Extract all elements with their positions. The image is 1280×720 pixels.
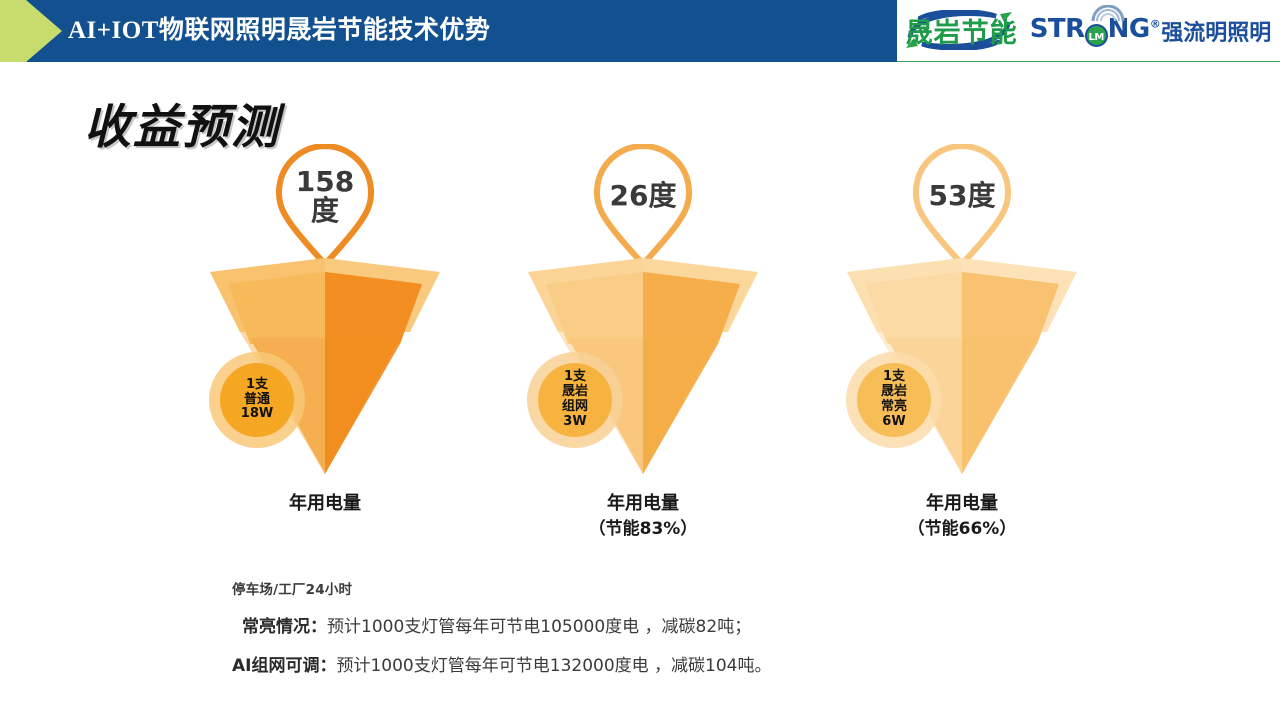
pin-number: 158	[296, 167, 354, 196]
caption-main: 年用电量	[926, 493, 998, 514]
badge-line: 组网	[562, 400, 588, 415]
value-pin-marker: 53度	[910, 144, 1014, 266]
registered-mark-icon: ®	[1150, 17, 1161, 30]
notes-block: 停车场/工厂24小时 常亮情况：预计1000支灯管每年可节电105000度电 ，…	[232, 578, 1132, 676]
badge-inner-circle: 1支 普通 18W	[220, 363, 294, 437]
value-pin-marker: 158 度	[273, 144, 377, 266]
page-title: AI+IOT物联网照明晟岩节能技术优势	[68, 0, 490, 62]
badge-line: 普通	[244, 393, 270, 408]
note-line-body: 预计1000支灯管每年可节电132000度电 ，减碳104吨。	[336, 656, 771, 676]
pin-value-text: 26度	[591, 144, 695, 248]
caption-main: 年用电量	[289, 493, 361, 514]
pin-value-text: 158 度	[273, 144, 377, 248]
pin-unit: 度	[311, 196, 339, 225]
pin-number: 53度	[929, 181, 996, 210]
lamp-badge: 1支 晟岩 组网 3W	[527, 352, 623, 448]
note-scenario: 停车场/工厂24小时	[232, 578, 1132, 598]
funnel-item: 158 度 1支 普通 18W 年用电量	[195, 140, 455, 560]
badge-line: 18W	[241, 407, 273, 422]
note-line-lead: AI组网可调：	[232, 656, 336, 676]
badge-line: 1支	[883, 370, 905, 385]
logo-lockup: 晟岩节能 STRLMNG® 强流明照明	[906, 8, 1272, 54]
badge-inner-circle: 1支 晟岩 组网 3W	[538, 363, 612, 437]
logo-chinese-subname: 强流明照明	[1161, 15, 1271, 47]
funnel-caption: 年用电量 （节能66%）	[832, 490, 1092, 543]
badge-line: 常亮	[881, 400, 907, 415]
logo-brand-pre: STR	[1030, 14, 1085, 44]
lamp-badge: 1支 普通 18W	[209, 352, 305, 448]
note-line-always-on: 常亮情况：预计1000支灯管每年可节电105000度电 ，减碳82吨；	[232, 612, 1132, 637]
funnel-chart-group: 158 度 1支 普通 18W 年用电量	[0, 140, 1280, 560]
lamp-badge: 1支 晟岩 常亮 6W	[846, 352, 942, 448]
pin-value-text: 53度	[910, 144, 1014, 248]
page-header: AI+IOT物联网照明晟岩节能技术优势 晟岩节能 STRLMNG® 强流明照明	[0, 0, 1280, 72]
fan-arc-icon	[1091, 5, 1125, 21]
note-line-lead: 常亮情况：	[242, 617, 327, 637]
funnel-caption: 年用电量 （节能83%）	[513, 490, 773, 543]
logo-chinese-name: 晟岩节能	[906, 11, 1018, 50]
funnel-item: 53度 1支 晟岩 常亮 6W 年用电量 （节能66%	[832, 140, 1092, 560]
caption-main: 年用电量	[607, 493, 679, 514]
caption-sub: （节能83%）	[513, 517, 773, 543]
badge-line: 1支	[246, 378, 268, 393]
pin-number: 26度	[610, 181, 677, 210]
badge-inner-circle: 1支 晟岩 常亮 6W	[857, 363, 931, 437]
caption-sub: （节能66%）	[832, 517, 1092, 543]
funnel-item: 26度 1支 晟岩 组网 3W 年用电量 （节能83%	[513, 140, 773, 560]
badge-line: 1支	[564, 370, 586, 385]
value-pin-marker: 26度	[591, 144, 695, 266]
note-line-ai-network: AI组网可调：预计1000支灯管每年可节电132000度电 ，减碳104吨。	[232, 651, 1132, 676]
brand-logo-panel: 晟岩节能 STRLMNG® 强流明照明	[897, 0, 1280, 62]
badge-line: 晟岩	[562, 385, 588, 400]
badge-line: 晟岩	[881, 385, 907, 400]
logo-brand-o-badge: LM	[1085, 24, 1108, 47]
badge-line: 3W	[563, 415, 586, 430]
funnel-caption: 年用电量	[195, 490, 455, 517]
note-line-body: 预计1000支灯管每年可节电105000度电 ，减碳82吨；	[327, 617, 751, 637]
logo-brand-strong: STRLMNG®	[1030, 14, 1161, 47]
badge-line: 6W	[882, 415, 905, 430]
